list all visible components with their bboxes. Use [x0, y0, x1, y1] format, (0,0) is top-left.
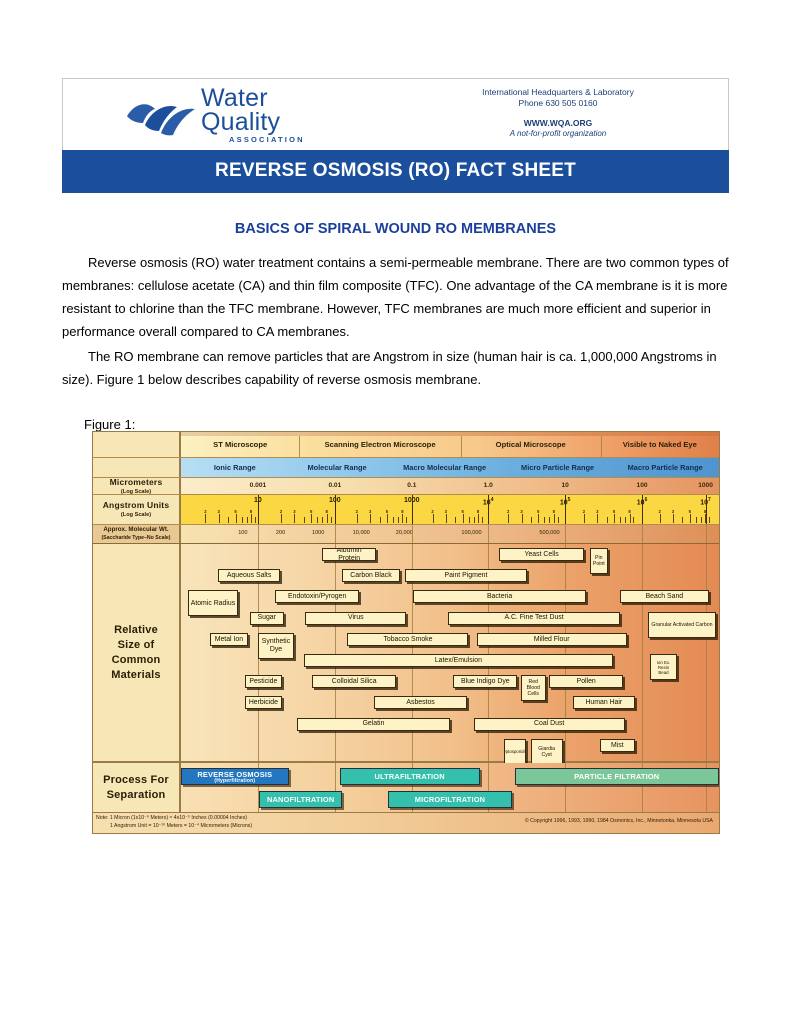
materials-plot-area: Albumin ProteinYeast CellsPin PointAqueo… — [181, 544, 719, 761]
decade-gridline — [706, 544, 707, 761]
angstrom-minor-tick — [558, 517, 559, 523]
angstrom-minor-label: 3 — [445, 509, 447, 514]
angstrom-minor-tick — [380, 517, 381, 523]
material-bar-pollen: Pollen — [549, 675, 623, 688]
angstrom-minor-label: 3 — [596, 509, 598, 514]
angstrom-minor-tick — [660, 514, 661, 523]
material-bar-human-hair: Human Hair — [573, 696, 635, 709]
angstrom-minor-tick — [251, 514, 252, 523]
angstrom-minor-label: 8 — [401, 509, 403, 514]
material-bar-blue-indigo-dye: Blue Indigo Dye — [453, 675, 517, 688]
angstrom-minor-tick — [463, 514, 464, 523]
angstrom-minor-tick — [522, 514, 523, 523]
org-tagline: A not-for-profit organization — [393, 129, 723, 138]
material-bar-ion-ex-resin-bead: Ion Ex. Resin Bead — [650, 654, 677, 680]
material-bar-albumin-protein: Albumin Protein — [322, 548, 376, 561]
molecular-weight-label: 200 — [276, 530, 285, 536]
angstrom-minor-tick — [398, 517, 399, 523]
size-range-segment: Macro Particle Range — [611, 458, 719, 477]
row-label-angstroms: Angstrom Units (Log Scale) — [93, 495, 181, 524]
decade-gridline — [565, 525, 566, 543]
wqa-logo: Water Quality ASSOCIATION — [125, 87, 355, 145]
angstrom-sublabel: (Log Scale) — [121, 511, 151, 519]
material-bar-tobacco-smoke: Tobacco Smoke — [347, 633, 468, 646]
headquarters-info: International Headquarters & Laboratory … — [393, 87, 723, 138]
chart-note: Note: 1 Micron (1x10⁻⁶ Meters) ≈ 4x10⁻⁵ … — [96, 815, 252, 830]
angstrom-minor-tick — [304, 517, 305, 523]
relative-size-label-3: Common — [112, 653, 161, 668]
angstrom-minor-label: 5 — [537, 509, 539, 514]
micrometer-tick-label: 1.0 — [484, 482, 493, 489]
angstrom-minor-label: 8 — [628, 509, 630, 514]
material-bar-pin-point: Pin Point — [590, 548, 608, 574]
angstrom-minor-tick — [433, 514, 434, 523]
relative-size-label-4: Materials — [111, 668, 161, 683]
angstrom-minor-label: 2 — [583, 509, 585, 514]
angstrom-minor-tick — [255, 517, 256, 523]
decade-gridline — [335, 525, 336, 543]
row-label-molecular-weight: Approx. Molecular Wt. (Saccharide Type–N… — [93, 525, 181, 543]
angstrom-minor-tick — [294, 514, 295, 523]
angstrom-minor-tick — [625, 517, 626, 523]
angstrom-minor-tick — [317, 517, 318, 523]
angstrom-minor-tick — [614, 514, 615, 523]
angstrom-minor-label: 2 — [280, 509, 282, 514]
angstrom-minor-label: 5 — [689, 509, 691, 514]
micrometer-tick-label: 100 — [637, 482, 648, 489]
row-label-micrometers: Micrometers (Log Scale) — [93, 478, 181, 494]
angstrom-minor-tick — [597, 514, 598, 523]
relative-size-label-2: Size of — [118, 638, 155, 653]
angstrom-minor-label: 3 — [520, 509, 522, 514]
angstrom-minor-tick — [327, 514, 328, 523]
material-bar-beach-sand: Beach Sand — [620, 590, 709, 603]
chart-note-line-1: Note: 1 Micron (1x10⁻⁶ Meters) ≈ 4x10⁻⁵ … — [96, 815, 252, 823]
chart-row-size-ranges: Ionic RangeMolecular RangeMacro Molecula… — [93, 458, 719, 478]
process-bar-sublabel: (Hyperfiltration) — [214, 778, 255, 784]
size-range-scale: Ionic RangeMolecular RangeMacro Molecula… — [181, 458, 719, 477]
angstrom-minor-label: 3 — [218, 509, 220, 514]
material-bar-sugar: Sugar — [250, 612, 284, 625]
angstrom-minor-tick — [554, 514, 555, 523]
angstrom-scale: 1010010001041051061072358235823582358235… — [181, 495, 719, 524]
angstrom-minor-label: 5 — [386, 509, 388, 514]
angstrom-minor-tick — [247, 517, 248, 523]
document-sheet: Water Quality ASSOCIATION International … — [62, 78, 729, 432]
angstrom-decade-divider — [488, 495, 489, 524]
material-bar-paint-pigment: Paint Pigment — [405, 569, 528, 582]
micrometer-tick-label: 1000 — [698, 482, 713, 489]
angstrom-minor-label: 2 — [356, 509, 358, 514]
material-bar-latex-emulsion: Latex/Emulsion — [304, 654, 613, 667]
micrometer-tick-label: 0.001 — [250, 482, 267, 489]
mw-label: Approx. Molecular Wt. — [103, 526, 168, 534]
angstrom-minor-label: 5 — [310, 509, 312, 514]
angstrom-minor-tick — [474, 517, 475, 523]
angstrom-minor-tick — [607, 517, 608, 523]
micrometer-tick-label: 10 — [561, 482, 568, 489]
section-heading: BASICS OF SPIRAL WOUND RO MEMBRANES — [62, 221, 729, 237]
process-bar-reverse-osmosis[interactable]: REVERSE OSMOSIS(Hyperfiltration) — [181, 768, 289, 785]
molecular-weight-label: 500,000 — [539, 530, 559, 536]
material-bar-red-blood-cells: Red Blood Cells — [521, 675, 546, 701]
filtration-spectrum-chart: ST MicroscopeScanning Electron Microscop… — [92, 431, 720, 834]
angstrom-minor-label: 3 — [293, 509, 295, 514]
angstrom-decade-divider — [565, 495, 566, 524]
angstrom-minor-tick — [219, 514, 220, 523]
paragraph-1-text: Reverse osmosis (RO) water treatment con… — [62, 255, 729, 339]
chart-row-notes: Note: 1 Micron (1x10⁻⁶ Meters) ≈ 4x10⁻⁵ … — [93, 813, 719, 834]
molecular-weight-label: 1000 — [312, 530, 324, 536]
angstrom-minor-tick — [236, 514, 237, 523]
material-bar-coal-dust: Coal Dust — [474, 718, 625, 731]
angstrom-minor-tick — [228, 517, 229, 523]
material-bar-asbestos: Asbestos — [374, 696, 466, 709]
angstrom-minor-label: 5 — [234, 509, 236, 514]
decade-gridline — [412, 525, 413, 543]
angstrom-minor-tick — [538, 514, 539, 523]
angstrom-minor-tick — [357, 514, 358, 523]
angstrom-minor-tick — [705, 514, 706, 523]
chart-note-line-2: 1 Angstrom Unit = 10⁻¹⁰ Meters = 10⁻⁴ Mi… — [110, 823, 252, 831]
process-bar-label: MICROFILTRATION — [415, 795, 485, 804]
molecular-weight-scale: 100200100010,00020,000100,000500,000 — [181, 525, 719, 543]
angstrom-minor-tick — [584, 514, 585, 523]
row-label-process: Process For Separation — [93, 763, 181, 812]
material-bar-giardia-cyst: Giardia Cyst — [531, 739, 563, 765]
figure-caption: Figure 1: — [84, 417, 729, 432]
chart-row-micrometers: Micrometers (Log Scale) 0.0010.010.11.01… — [93, 478, 719, 495]
relative-size-label-1: Relative — [114, 623, 158, 638]
angstrom-minor-tick — [482, 517, 483, 523]
material-bar-pesticide: Pesticide — [245, 675, 282, 688]
row-label-microscopy — [93, 432, 181, 457]
process-label-1: Process For — [103, 773, 169, 788]
chart-row-materials: Relative Size of Common Materials Albumi… — [93, 544, 719, 763]
angstrom-minor-tick — [620, 517, 621, 523]
process-bar-microfiltration[interactable]: MICROFILTRATION — [388, 791, 512, 808]
angstrom-minor-tick — [402, 514, 403, 523]
material-bar-aqueous-salts: Aqueous Salts — [218, 569, 280, 582]
molecular-weight-label: 10,000 — [353, 530, 370, 536]
angstrom-minor-label: 8 — [326, 509, 328, 514]
material-bar-bacteria: Bacteria — [413, 590, 586, 603]
molecular-weight-label: 20,000 — [396, 530, 413, 536]
angstrom-minor-tick — [242, 517, 243, 523]
angstrom-minor-tick — [508, 514, 509, 523]
chart-row-process: Process For Separation REVERSE OSMOSIS(H… — [93, 763, 719, 813]
page-title: REVERSE OSMOSIS (RO) FACT SHEET — [62, 150, 729, 193]
chart-top-band — [181, 432, 719, 436]
material-bar-cryptosporidium: Cryptosporidium — [504, 739, 526, 765]
process-bar-ultrafiltration[interactable]: ULTRAFILTRATION — [340, 768, 480, 785]
angstrom-minor-label: 5 — [613, 509, 615, 514]
logo-line-2: Quality — [201, 110, 305, 134]
angstrom-minor-tick — [696, 517, 697, 523]
angstrom-minor-tick — [544, 517, 545, 523]
mw-sublabel: (Saccharide Type–No Scale) — [101, 534, 170, 542]
decade-gridline — [488, 525, 489, 543]
angstrom-minor-tick — [311, 514, 312, 523]
angstrom-decade-divider — [412, 495, 413, 524]
micrometers-label: Micrometers — [110, 477, 163, 488]
angstrom-minor-label: 8 — [553, 509, 555, 514]
process-plot-area: REVERSE OSMOSIS(Hyperfiltration)ULTRAFIL… — [181, 763, 719, 812]
size-range-segment: Macro Molecular Range — [385, 458, 503, 477]
material-bar-colloidal-silica: Colloidal Silica — [312, 675, 396, 688]
size-range-segment: Ionic Range — [181, 458, 289, 477]
angstrom-label: Angstrom Units — [103, 500, 170, 511]
angstrom-minor-tick — [673, 514, 674, 523]
logo-line-1: Water — [201, 87, 305, 110]
molecular-weight-label: 100 — [238, 530, 247, 536]
angstrom-minor-tick — [701, 517, 702, 523]
wqa-wave-logo-icon — [125, 95, 197, 137]
angstrom-minor-label: 2 — [658, 509, 660, 514]
material-bar-virus: Virus — [305, 612, 406, 625]
notes-area: Note: 1 Micron (1x10⁻⁶ Meters) ≈ 4x10⁻⁵ … — [93, 813, 719, 834]
angstrom-minor-label: 2 — [507, 509, 509, 514]
angstrom-minor-tick — [387, 514, 388, 523]
website-link[interactable]: WWW.WQA.ORG — [393, 118, 723, 128]
hq-phone-line: Phone 630 505 0160 — [393, 98, 723, 109]
angstrom-minor-tick — [690, 514, 691, 523]
process-bar-particle-filtration[interactable]: PARTICLE FILTRATION — [515, 768, 719, 785]
paragraph-1: Reverse osmosis (RO) water treatment con… — [62, 251, 729, 343]
material-bar-endotoxin-pyrogen: Endotoxin/Pyrogen — [275, 590, 359, 603]
decade-gridline — [706, 525, 707, 543]
chart-copyright: © Copyright 1996, 1993, 1990, 1984 Osmon… — [525, 818, 713, 824]
material-bar-atomic-radius: Atomic Radius — [188, 590, 238, 616]
decade-gridline — [258, 525, 259, 543]
chart-row-molecular-weight: Approx. Molecular Wt. (Saccharide Type–N… — [93, 525, 719, 544]
row-label-relative-size: Relative Size of Common Materials — [93, 544, 181, 761]
angstrom-minor-label: 2 — [431, 509, 433, 514]
material-bar-synthetic-dye: Synthetic Dye — [258, 633, 293, 659]
process-bar-label: PARTICLE FILTRATION — [574, 772, 659, 781]
material-bar-milled-flour: Milled Flour — [477, 633, 627, 646]
row-label-size-ranges — [93, 458, 181, 477]
hq-address-line: International Headquarters & Laboratory — [393, 87, 723, 98]
angstrom-decade-divider — [642, 495, 643, 524]
angstrom-minor-label: 8 — [250, 509, 252, 514]
angstrom-minor-tick — [469, 517, 470, 523]
angstrom-minor-tick — [633, 517, 634, 523]
angstrom-minor-tick — [281, 514, 282, 523]
angstrom-minor-tick — [205, 514, 206, 523]
size-range-segment: Micro Particle Range — [504, 458, 612, 477]
size-range-segment: Molecular Range — [289, 458, 386, 477]
process-label-2: Separation — [107, 788, 166, 803]
angstrom-minor-tick — [455, 517, 456, 523]
angstrom-minor-tick — [531, 517, 532, 523]
material-bar-herbicide: Herbicide — [245, 696, 282, 709]
material-bar-mist: Mist — [600, 739, 635, 752]
micrometer-scale: 0.0010.010.11.0101001000 — [181, 478, 719, 494]
chart-row-angstroms: Angstrom Units (Log Scale) 1010010001041… — [93, 495, 719, 525]
process-bar-label: NANOFILTRATION — [267, 795, 334, 804]
angstrom-minor-tick — [709, 517, 710, 523]
angstrom-minor-label: 8 — [477, 509, 479, 514]
angstrom-minor-tick — [630, 514, 631, 523]
decade-gridline — [642, 525, 643, 543]
material-bar-gelatin: Gelatin — [297, 718, 450, 731]
angstrom-minor-label: 5 — [461, 509, 463, 514]
material-bar-granular-activated-carbon: Granular Activated Carbon — [648, 612, 715, 638]
paragraph-2: The RO membrane can remove particles tha… — [62, 345, 729, 391]
angstrom-minor-tick — [446, 514, 447, 523]
decade-gridline — [642, 544, 643, 761]
angstrom-minor-tick — [478, 514, 479, 523]
angstrom-minor-tick — [549, 517, 550, 523]
angstrom-minor-label: 2 — [204, 509, 206, 514]
material-bar-a-c-fine-test-dust: A.C. Fine Test Dust — [448, 612, 619, 625]
letterhead: Water Quality ASSOCIATION International … — [62, 78, 729, 150]
angstrom-minor-tick — [322, 517, 323, 523]
angstrom-minor-tick — [406, 517, 407, 523]
angstrom-decade-divider — [258, 495, 259, 524]
angstrom-minor-label: 3 — [672, 509, 674, 514]
material-bar-metal-ion: Metal Ion — [210, 633, 249, 646]
material-bar-yeast-cells: Yeast Cells — [499, 548, 585, 561]
micrometer-tick-label: 0.1 — [407, 482, 416, 489]
angstrom-minor-tick — [682, 517, 683, 523]
angstrom-minor-label: 8 — [704, 509, 706, 514]
micrometer-tick-label: 0.01 — [328, 482, 341, 489]
paragraph-2-text: The RO membrane can remove particles tha… — [62, 349, 717, 387]
angstrom-minor-tick — [393, 517, 394, 523]
molecular-weight-label: 100,000 — [461, 530, 481, 536]
angstrom-minor-label: 3 — [369, 509, 371, 514]
angstrom-minor-tick — [331, 517, 332, 523]
process-bar-nanofiltration[interactable]: NANOFILTRATION — [259, 791, 342, 808]
process-bar-label: ULTRAFILTRATION — [374, 772, 444, 781]
material-bar-carbon-black: Carbon Black — [342, 569, 399, 582]
angstrom-decade-divider — [335, 495, 336, 524]
angstrom-minor-tick — [370, 514, 371, 523]
logo-line-3: ASSOCIATION — [229, 135, 305, 144]
